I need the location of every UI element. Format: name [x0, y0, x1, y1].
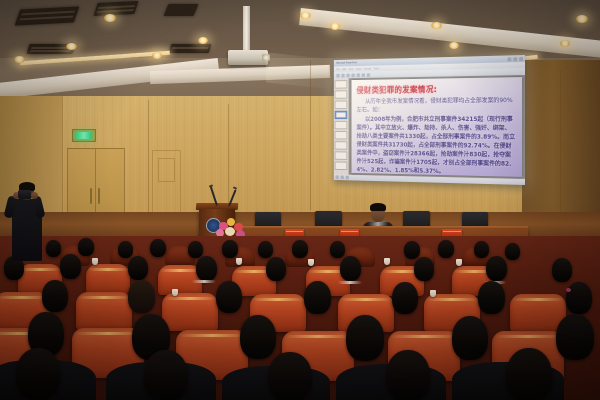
- projection-screen: Microsoft PowerPoint File Edit View Inse…: [334, 55, 525, 185]
- paper-cup: [236, 258, 242, 265]
- auditorium-photo: Microsoft PowerPoint File Edit View Inse…: [0, 0, 600, 400]
- slide-thumbnail-panel[interactable]: [334, 78, 349, 175]
- paper-cup: [456, 259, 462, 266]
- slide-thumbnail[interactable]: [335, 101, 348, 109]
- audience-head: [330, 241, 345, 258]
- downlight: [14, 56, 25, 63]
- slideshow-icon[interactable]: [346, 176, 349, 180]
- audience-head: [128, 256, 148, 280]
- wall-panel-seam: [228, 104, 229, 208]
- audience-head: [222, 240, 238, 258]
- audience-head: [46, 240, 61, 257]
- audience-head: [414, 257, 434, 281]
- downlight: [152, 52, 162, 59]
- audience-head: [196, 256, 217, 281]
- camera-icon: [18, 190, 31, 199]
- downlight: [198, 37, 208, 44]
- audience-head: [292, 240, 308, 258]
- seat[interactable]: [86, 264, 130, 294]
- audience-head: [346, 315, 384, 361]
- audience-head: [392, 282, 418, 314]
- paper-cup: [308, 259, 314, 266]
- slide-thumbnail[interactable]: [335, 141, 348, 149]
- slide-thumbnail[interactable]: [335, 151, 348, 160]
- ac-vent: [94, 1, 139, 16]
- menu-item-insert[interactable]: Insert: [356, 67, 362, 70]
- audience-head: [386, 350, 430, 400]
- audience-head: [128, 280, 155, 313]
- slide-thumbnail[interactable]: [335, 121, 348, 129]
- ac-vent: [164, 4, 199, 16]
- current-slide: 侵财类犯罪的发案情况: 从历年全我市发案情况看，侵财类犯罪均占全部发案的90%左…: [351, 77, 522, 177]
- exit-sign: [72, 129, 96, 142]
- open-icon[interactable]: [341, 73, 344, 77]
- italic-icon[interactable]: [362, 73, 365, 77]
- audience-head: [150, 239, 166, 257]
- audience-head: [340, 256, 361, 281]
- wall-panel-seam: [148, 100, 149, 218]
- seat[interactable]: [162, 293, 218, 331]
- seated-officer-hair: [370, 203, 386, 211]
- menu-item-edit[interactable]: Edit: [342, 68, 346, 71]
- audience-head: [266, 257, 286, 281]
- audience-head: [240, 315, 276, 359]
- downlight: [576, 15, 588, 23]
- slide-thumbnail[interactable]: [335, 161, 348, 170]
- close-icon[interactable]: [519, 57, 523, 61]
- downlight: [431, 22, 442, 29]
- audience-head: [304, 281, 331, 314]
- menu-item-file[interactable]: File: [336, 68, 339, 71]
- paper-cup: [430, 290, 436, 297]
- undo-icon[interactable]: [367, 73, 370, 77]
- nameplate: [285, 229, 304, 236]
- downlight: [449, 42, 459, 49]
- projector-mount-pole: [243, 6, 250, 54]
- audience-head: [556, 314, 594, 360]
- audience-head: [552, 258, 572, 282]
- editor-body: 侵财类犯罪的发案情况: 从历年全我市发案情况看，侵财类犯罪均占全部发案的90%左…: [334, 75, 525, 179]
- slide-canvas[interactable]: 侵财类犯罪的发案情况: 从历年全我市发案情况看，侵财类犯罪均占全部发案的90%左…: [349, 75, 525, 179]
- slide-thumbnail-selected[interactable]: [335, 111, 348, 119]
- slide-paragraph-1: 从历年全我市发案情况看，侵财类犯罪均占全部发案的90%左右。如：: [357, 97, 517, 115]
- slide-paragraph-2: 以2008年为例，合肥市共立刑事案件34215起（现行刑事案件）。其中立放火、爆…: [357, 116, 517, 177]
- maximize-icon[interactable]: [513, 57, 517, 61]
- audience-head: [118, 241, 133, 258]
- sorter-view-icon[interactable]: [341, 175, 344, 179]
- slide-thumbnail[interactable]: [335, 131, 348, 139]
- audience-head: [216, 281, 242, 313]
- menu-item-tools[interactable]: Tools: [374, 67, 379, 70]
- paper-cup: [172, 289, 178, 296]
- audience-head: [404, 241, 420, 259]
- save-icon[interactable]: [346, 73, 349, 77]
- hair-tie: [566, 288, 571, 292]
- exit-door-left[interactable]: [67, 148, 97, 222]
- nameplate: [340, 229, 359, 236]
- flower-petal: [225, 227, 235, 236]
- slide-thumbnail[interactable]: [335, 80, 348, 89]
- downlight: [560, 40, 570, 47]
- audience-head: [478, 281, 505, 314]
- downlight: [300, 12, 311, 19]
- minimize-icon[interactable]: [508, 57, 512, 61]
- wall-panel-seam: [310, 60, 311, 210]
- door-handle[interactable]: [98, 188, 100, 204]
- new-icon[interactable]: [336, 73, 339, 77]
- audience-head: [144, 350, 188, 400]
- audience-head: [505, 243, 520, 260]
- door-panel-inset: [158, 158, 175, 182]
- audience-head: [258, 241, 273, 258]
- seat[interactable]: [76, 292, 132, 330]
- exit-sign-glow-icon: [76, 132, 92, 139]
- slide-thumbnail[interactable]: [335, 90, 348, 98]
- audience-head: [474, 241, 489, 258]
- normal-view-icon[interactable]: [336, 175, 339, 179]
- print-icon[interactable]: [351, 73, 354, 77]
- powerpoint-window: Microsoft PowerPoint File Edit View Inse…: [334, 55, 525, 185]
- audience-collar: [338, 281, 362, 284]
- paper-cup: [384, 258, 390, 265]
- bold-icon[interactable]: [357, 73, 360, 77]
- audience-head: [78, 238, 94, 256]
- audience-head: [566, 282, 592, 314]
- downlight: [330, 23, 340, 30]
- audience-head: [60, 254, 81, 279]
- nameplate: [442, 229, 462, 236]
- door-handle[interactable]: [90, 188, 92, 204]
- audience-head: [16, 348, 60, 400]
- exit-door-right[interactable]: [95, 148, 125, 222]
- slide-title: 侵财类犯罪的发案情况:: [357, 82, 517, 96]
- ac-vent: [15, 6, 80, 25]
- projector-lens-icon: [262, 54, 270, 61]
- photographer-hand: [31, 192, 38, 199]
- audience-head: [42, 280, 68, 312]
- menu-item-view[interactable]: View: [349, 67, 354, 70]
- audience-head: [452, 316, 488, 360]
- menu-item-format[interactable]: Format: [364, 67, 371, 70]
- audience-head: [188, 241, 203, 258]
- window-title: Microsoft PowerPoint: [336, 61, 357, 64]
- paper-cup: [92, 258, 98, 265]
- ac-vent: [169, 44, 212, 53]
- downlight: [104, 14, 116, 22]
- audience-collar: [192, 280, 216, 283]
- downlight: [66, 43, 77, 50]
- audience-head: [506, 348, 552, 400]
- audience-head: [438, 240, 454, 258]
- audience-head: [486, 256, 507, 281]
- audience-head: [268, 352, 312, 400]
